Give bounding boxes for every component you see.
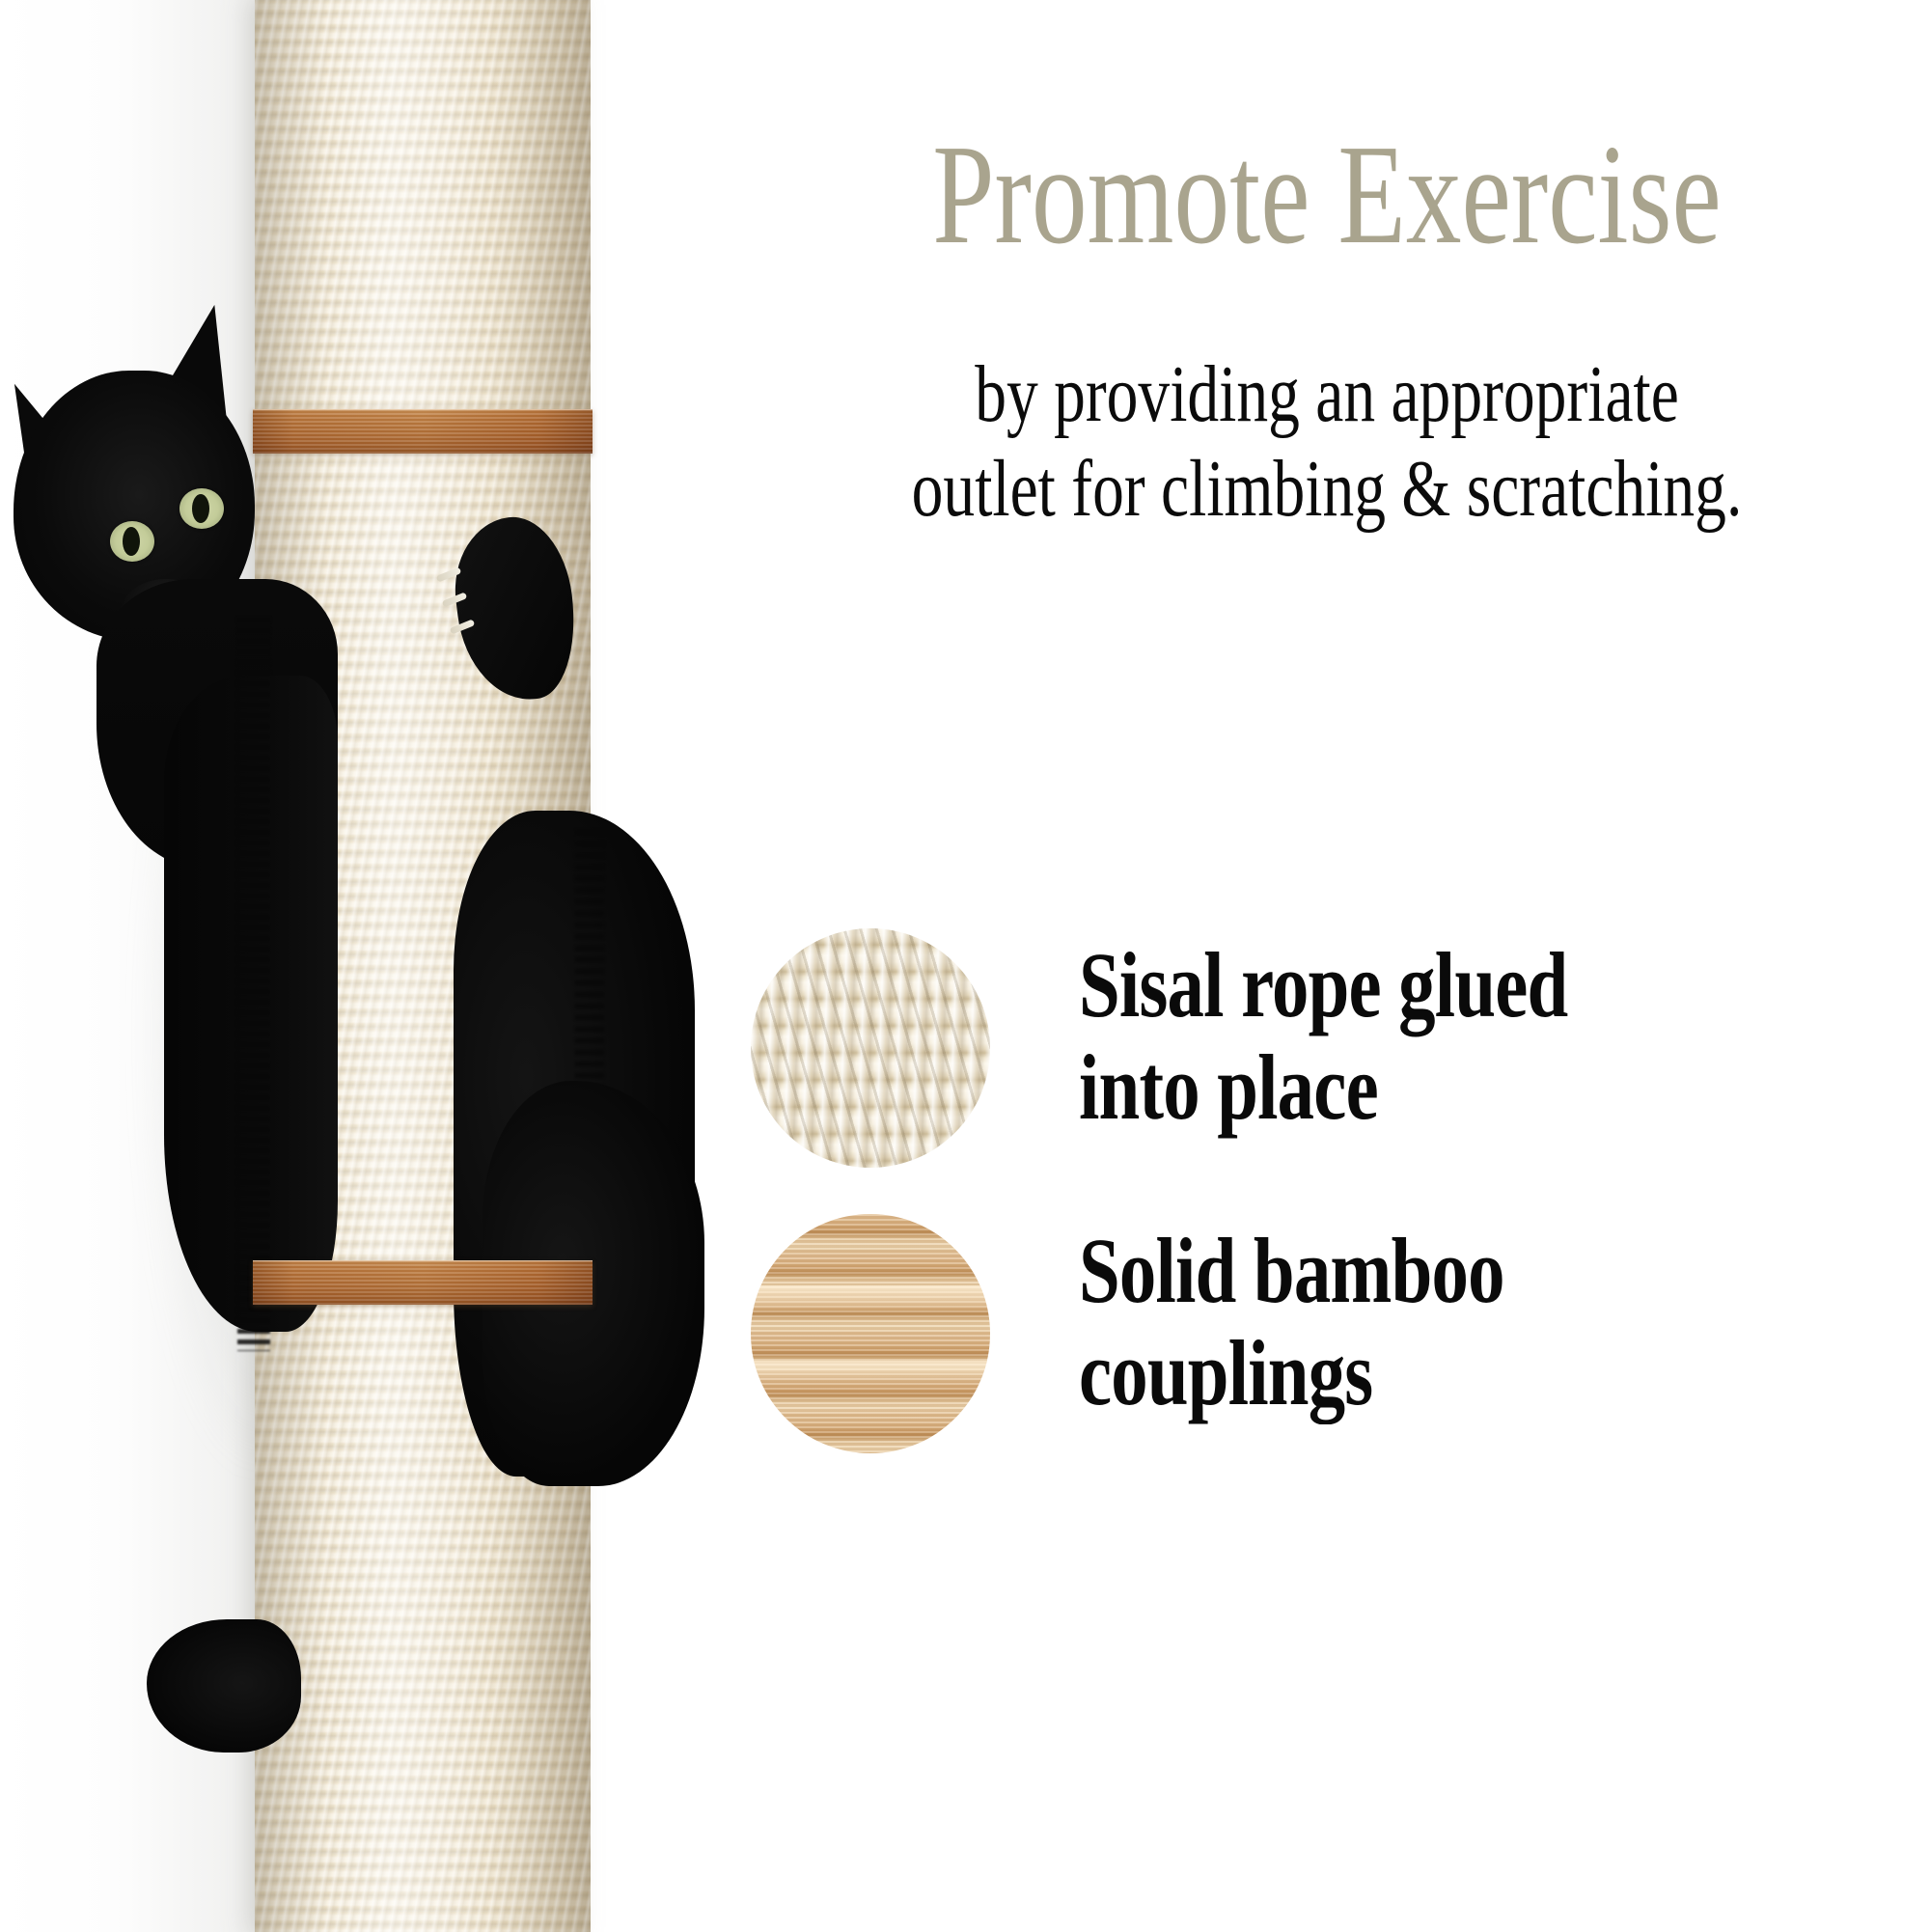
feature-bamboo-line-1: Solid bamboo	[1079, 1220, 1760, 1322]
cat-paw	[447, 511, 584, 706]
subheading-line-1: by providing an appropriate	[864, 347, 1789, 442]
product-photo	[0, 0, 733, 1932]
feature-label-bamboo: Solid bamboo couplings	[1079, 1214, 1760, 1423]
feature-item-bamboo: Solid bamboo couplings	[751, 1214, 1930, 1453]
cat-eye-right	[179, 488, 224, 529]
feature-item-sisal: Sisal rope glued into place	[751, 928, 1930, 1168]
bamboo-swatch-icon	[751, 1214, 990, 1453]
feature-bamboo-line-2: couplings	[1079, 1322, 1760, 1424]
bamboo-light-band	[751, 1285, 990, 1314]
marketing-image: Promote Exercise by providing an appropr…	[0, 0, 1930, 1932]
sisal-rope-swatch-icon	[751, 928, 990, 1168]
black-cat	[0, 0, 733, 1932]
bamboo-light-band	[751, 1361, 990, 1382]
cat-tail	[147, 1619, 301, 1753]
subheading-line-2: outlet for climbing & scratching.	[864, 442, 1789, 537]
bamboo-grain-fine	[751, 1214, 990, 1453]
bamboo-coupling-bottom	[253, 1260, 593, 1305]
copy-panel: Promote Exercise by providing an appropr…	[733, 0, 1930, 1932]
feature-sisal-line-2: into place	[1079, 1036, 1760, 1139]
feature-label-sisal: Sisal rope glued into place	[1079, 928, 1760, 1138]
cat-fur-edge-left	[237, 618, 270, 1351]
subheading: by providing an appropriate outlet for c…	[864, 347, 1789, 538]
feature-list: Sisal rope glued into place Solid bamboo…	[751, 928, 1930, 1500]
sisal-knots	[751, 928, 990, 1168]
feature-sisal-line-1: Sisal rope glued	[1079, 934, 1760, 1036]
headline: Promote Exercise	[864, 124, 1789, 266]
bamboo-grain	[253, 1260, 593, 1305]
cat-pupil-left	[123, 527, 140, 556]
cat-eye-left	[110, 521, 154, 562]
cat-pupil-right	[192, 494, 209, 523]
